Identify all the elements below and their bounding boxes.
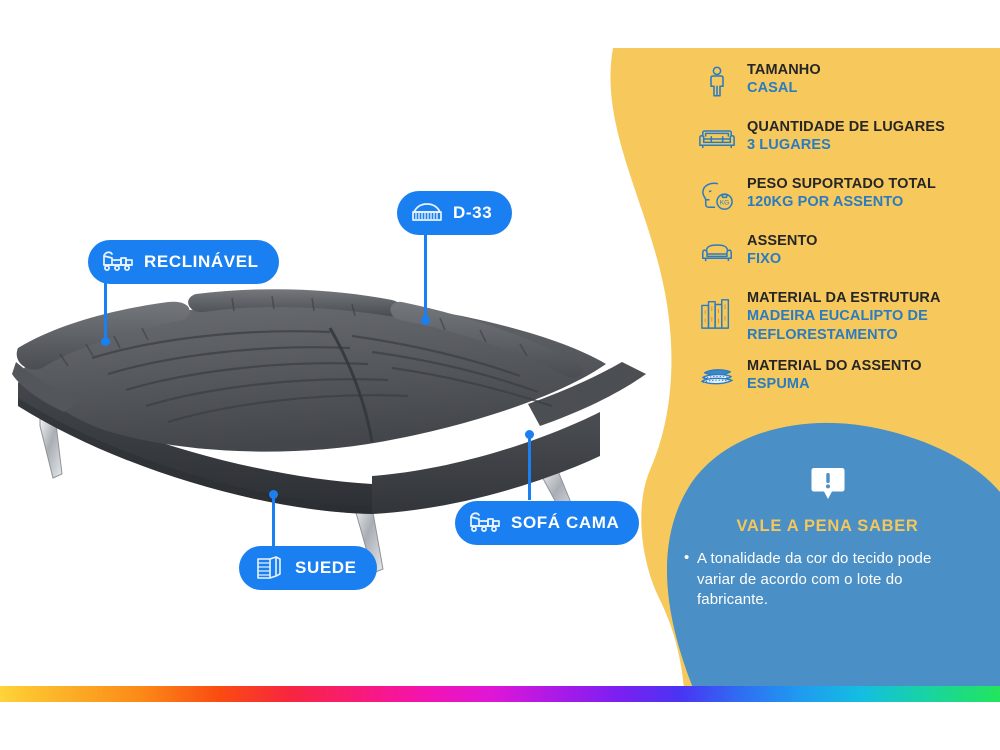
leader-dot-d33 (421, 316, 430, 325)
spec-value: ESPUMA (747, 376, 810, 392)
specifications-list: TAMANHO CASAL QUANTIDADE DE LUGARES 3 LU… (697, 60, 992, 413)
spec-row-assento: ASSENTO FIXO (697, 231, 992, 275)
infographic-canvas: RECLINÁVEL D-33 (0, 0, 1000, 750)
foam-layers-icon (697, 356, 737, 400)
spec-label: MATERIAL DO ASSENTO (747, 358, 922, 374)
spec-value: 120KG POR ASSENTO (747, 194, 903, 210)
callout-sofacama[interactable]: SOFÁ CAMA (455, 501, 639, 545)
spec-label: QUANTIDADE DE LUGARES (747, 119, 945, 135)
leader-line-sofacama (528, 434, 531, 500)
bullet-item: A tonalidade da cor do tecido pode varia… (697, 549, 945, 611)
sofa-3seat-icon (697, 117, 737, 161)
weight-head-icon: KG (697, 174, 737, 218)
exclamation-bubble-icon-wrap (675, 465, 980, 508)
leader-dot-sofacama (525, 430, 534, 439)
callout-d33[interactable]: D-33 (397, 191, 512, 235)
spec-label: PESO SUPORTADO TOTAL (747, 176, 936, 192)
callout-label: D-33 (453, 203, 492, 223)
spec-label: MATERIAL DA ESTRUTURA (747, 290, 941, 306)
spec-row-estrutura: MATERIAL DA ESTRUTURA MADEIRA EUCALIPTO … (697, 288, 992, 345)
spec-label: ASSENTO (747, 233, 818, 249)
armchair-icon (697, 231, 737, 275)
spec-row-material-assento: MATERIAL DO ASSENTO ESPUMA (697, 356, 992, 400)
mattress-density-icon (410, 198, 444, 228)
worth-knowing-bullets: A tonalidade da cor do tecido pode varia… (675, 549, 980, 611)
spec-label: TAMANHO (747, 62, 821, 78)
sofabed-icon (468, 508, 502, 538)
spec-value: 3 LUGARES (747, 137, 831, 153)
leader-line-reclinavel (104, 283, 107, 343)
spec-row-tamanho: TAMANHO CASAL (697, 60, 992, 104)
spec-row-peso: KG PESO SUPORTADO TOTAL 120KG POR ASSENT… (697, 174, 992, 218)
callout-label: SUEDE (295, 558, 357, 578)
spec-value: MADEIRA EUCALIPTO DE REFLORESTAMENTO (747, 308, 928, 343)
rainbow-divider (0, 686, 1000, 702)
spec-value: FIXO (747, 251, 781, 267)
callout-label: SOFÁ CAMA (511, 513, 619, 533)
leader-line-suede (272, 494, 275, 548)
person-icon (697, 60, 737, 104)
leader-line-d33 (424, 233, 427, 321)
recliner-icon (101, 247, 135, 277)
worth-knowing-title: VALE A PENA SABER (675, 517, 980, 536)
spec-value: CASAL (747, 80, 797, 96)
spec-row-lugares: QUANTIDADE DE LUGARES 3 LUGARES (697, 117, 992, 161)
exclamation-bubble-icon (810, 465, 846, 503)
callout-reclinavel[interactable]: RECLINÁVEL (88, 240, 279, 284)
leader-dot-suede (269, 490, 278, 499)
callout-label: RECLINÁVEL (144, 252, 259, 272)
wood-planks-icon (697, 288, 737, 338)
leader-dot-reclinavel (101, 337, 110, 346)
worth-knowing-box: VALE A PENA SABER A tonalidade da cor do… (675, 465, 980, 611)
callout-suede[interactable]: SUEDE (239, 546, 377, 590)
svg-text:KG: KG (720, 199, 730, 206)
fabric-roll-icon (252, 553, 286, 583)
